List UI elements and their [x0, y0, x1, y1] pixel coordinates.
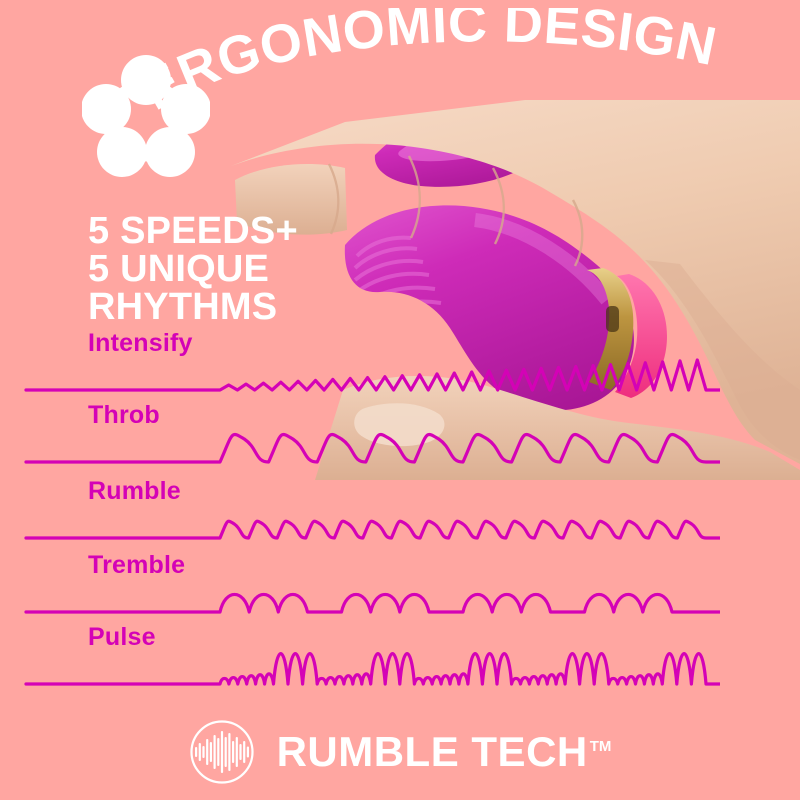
waveform-row-pulse: Pulse: [0, 624, 800, 702]
waveform-row-tremble: Tremble: [0, 552, 800, 630]
brand-mark-bar: [220, 731, 222, 773]
brand-footer: RUMBLE TECHTM: [0, 712, 800, 792]
brand-trademark-mark: TM: [590, 738, 612, 755]
feature-headline-line-2: 5 UNIQUE: [88, 250, 388, 288]
brand-mark-bar: [224, 737, 226, 767]
logo-connector-5: [141, 151, 152, 162]
waveform-row-intensify: Intensify: [0, 330, 800, 408]
waveform-row-throb: Throb: [0, 402, 800, 480]
brand-mark-bar: [246, 747, 248, 758]
logo-circle-top: [121, 55, 171, 105]
brand-mark-bar: [213, 735, 215, 769]
brand-mark-bar: [202, 746, 204, 758]
marketing-graphic: ERGONOMIC DESIGN 5 SPEEDS+ 5 UNIQUE RHYT…: [0, 0, 800, 800]
logo-connector-2: [163, 87, 174, 98]
brand-mark-bar: [198, 743, 200, 761]
brand-name-text: RUMBLE TECH: [277, 728, 588, 775]
feature-headline: 5 SPEEDS+ 5 UNIQUE RHYTHMS: [88, 212, 388, 326]
five-circle-pentagon-logo: [82, 52, 210, 180]
brand-mark-bar: [243, 741, 245, 763]
brand-mark-bar: [217, 738, 219, 766]
brand-mark-bar: [195, 747, 197, 757]
brand-mark-bar: [228, 733, 230, 771]
logo-connector-4: [177, 129, 188, 140]
logo-circle-bottom-left: [97, 127, 147, 177]
waveform-graph-tremble: [20, 552, 720, 630]
brand-mark-bar: [232, 741, 234, 763]
brand-mark-bar: [239, 744, 241, 760]
waveform-graph-intensify: [20, 330, 720, 408]
headline-text: ERGONOMIC DESIGN: [150, 8, 722, 118]
waveform-graph-rumble: [20, 478, 720, 556]
product-button: [606, 306, 619, 332]
feature-headline-line-3: RHYTHMS: [88, 288, 388, 326]
page-headline: ERGONOMIC DESIGN: [150, 8, 770, 118]
brand-mark-bar: [206, 739, 208, 765]
audio-waveform-circle-icon: [189, 719, 255, 785]
waveform-graph-throb: [20, 402, 720, 480]
logo-connector-1: [119, 87, 130, 98]
waveform-list: Intensify Throb Rumble Tremble Pulse: [0, 330, 800, 715]
brand-mark-bar: [209, 742, 211, 762]
brand-name: RUMBLE TECHTM: [277, 728, 612, 776]
waveform-row-rumble: Rumble: [0, 478, 800, 556]
brand-mark-bar: [235, 737, 237, 767]
waveform-graph-pulse: [20, 624, 720, 702]
logo-connector-3: [105, 129, 116, 140]
logo-circle-bottom-right: [145, 127, 195, 177]
feature-headline-line-1: 5 SPEEDS+: [88, 212, 388, 250]
